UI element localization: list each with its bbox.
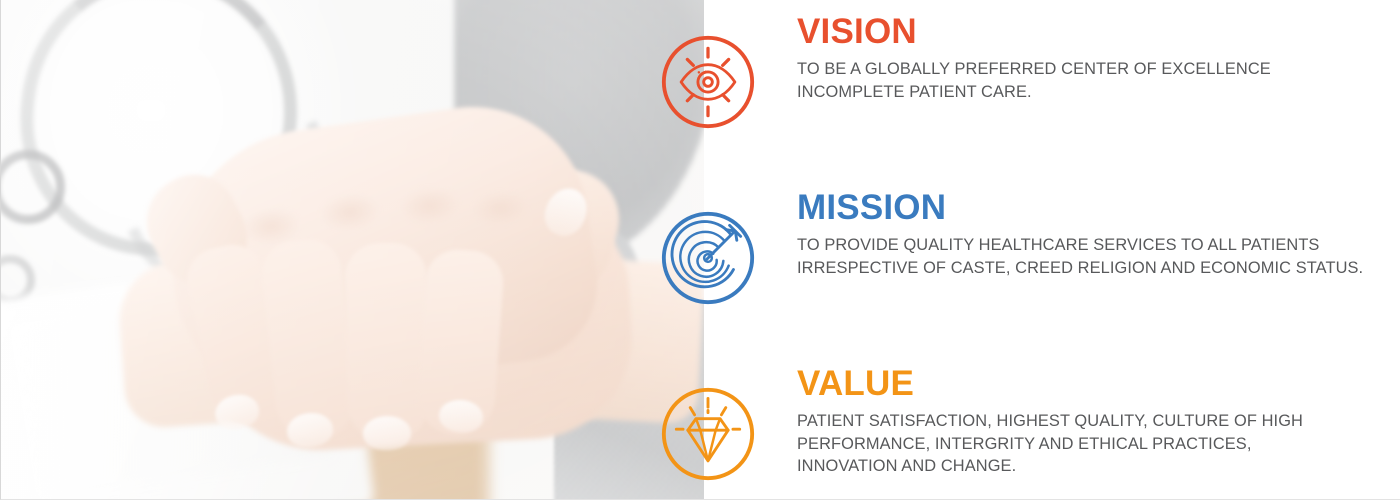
value-title: VALUE bbox=[797, 366, 1397, 401]
hero-photo bbox=[1, 0, 704, 500]
vision-title: VISION bbox=[797, 14, 1397, 49]
photo-vignette-overlay bbox=[1, 0, 704, 500]
text-column: VISION TO BE A GLOBALLY PREFERRED CENTER… bbox=[704, 0, 1400, 500]
vision-block: VISION TO BE A GLOBALLY PREFERRED CENTER… bbox=[797, 14, 1397, 103]
value-block: VALUE PATIENT SATISFACTION, HIGHEST QUAL… bbox=[797, 366, 1397, 478]
eye-icon bbox=[660, 34, 756, 130]
mission-block: MISSION TO PROVIDE QUALITY HEALTHCARE SE… bbox=[797, 190, 1397, 279]
mission-title: MISSION bbox=[797, 190, 1397, 225]
mission-body: TO PROVIDE QUALITY HEALTHCARE SERVICES T… bbox=[797, 234, 1397, 279]
value-body: PATIENT SATISFACTION, HIGHEST QUALITY, C… bbox=[797, 410, 1397, 478]
vision-mission-value-banner: VISION TO BE A GLOBALLY PREFERRED CENTER… bbox=[0, 0, 1400, 500]
target-arrow-icon bbox=[660, 210, 756, 306]
vision-body: TO BE A GLOBALLY PREFERRED CENTER OF EXC… bbox=[797, 58, 1397, 103]
diamond-icon bbox=[660, 386, 756, 482]
